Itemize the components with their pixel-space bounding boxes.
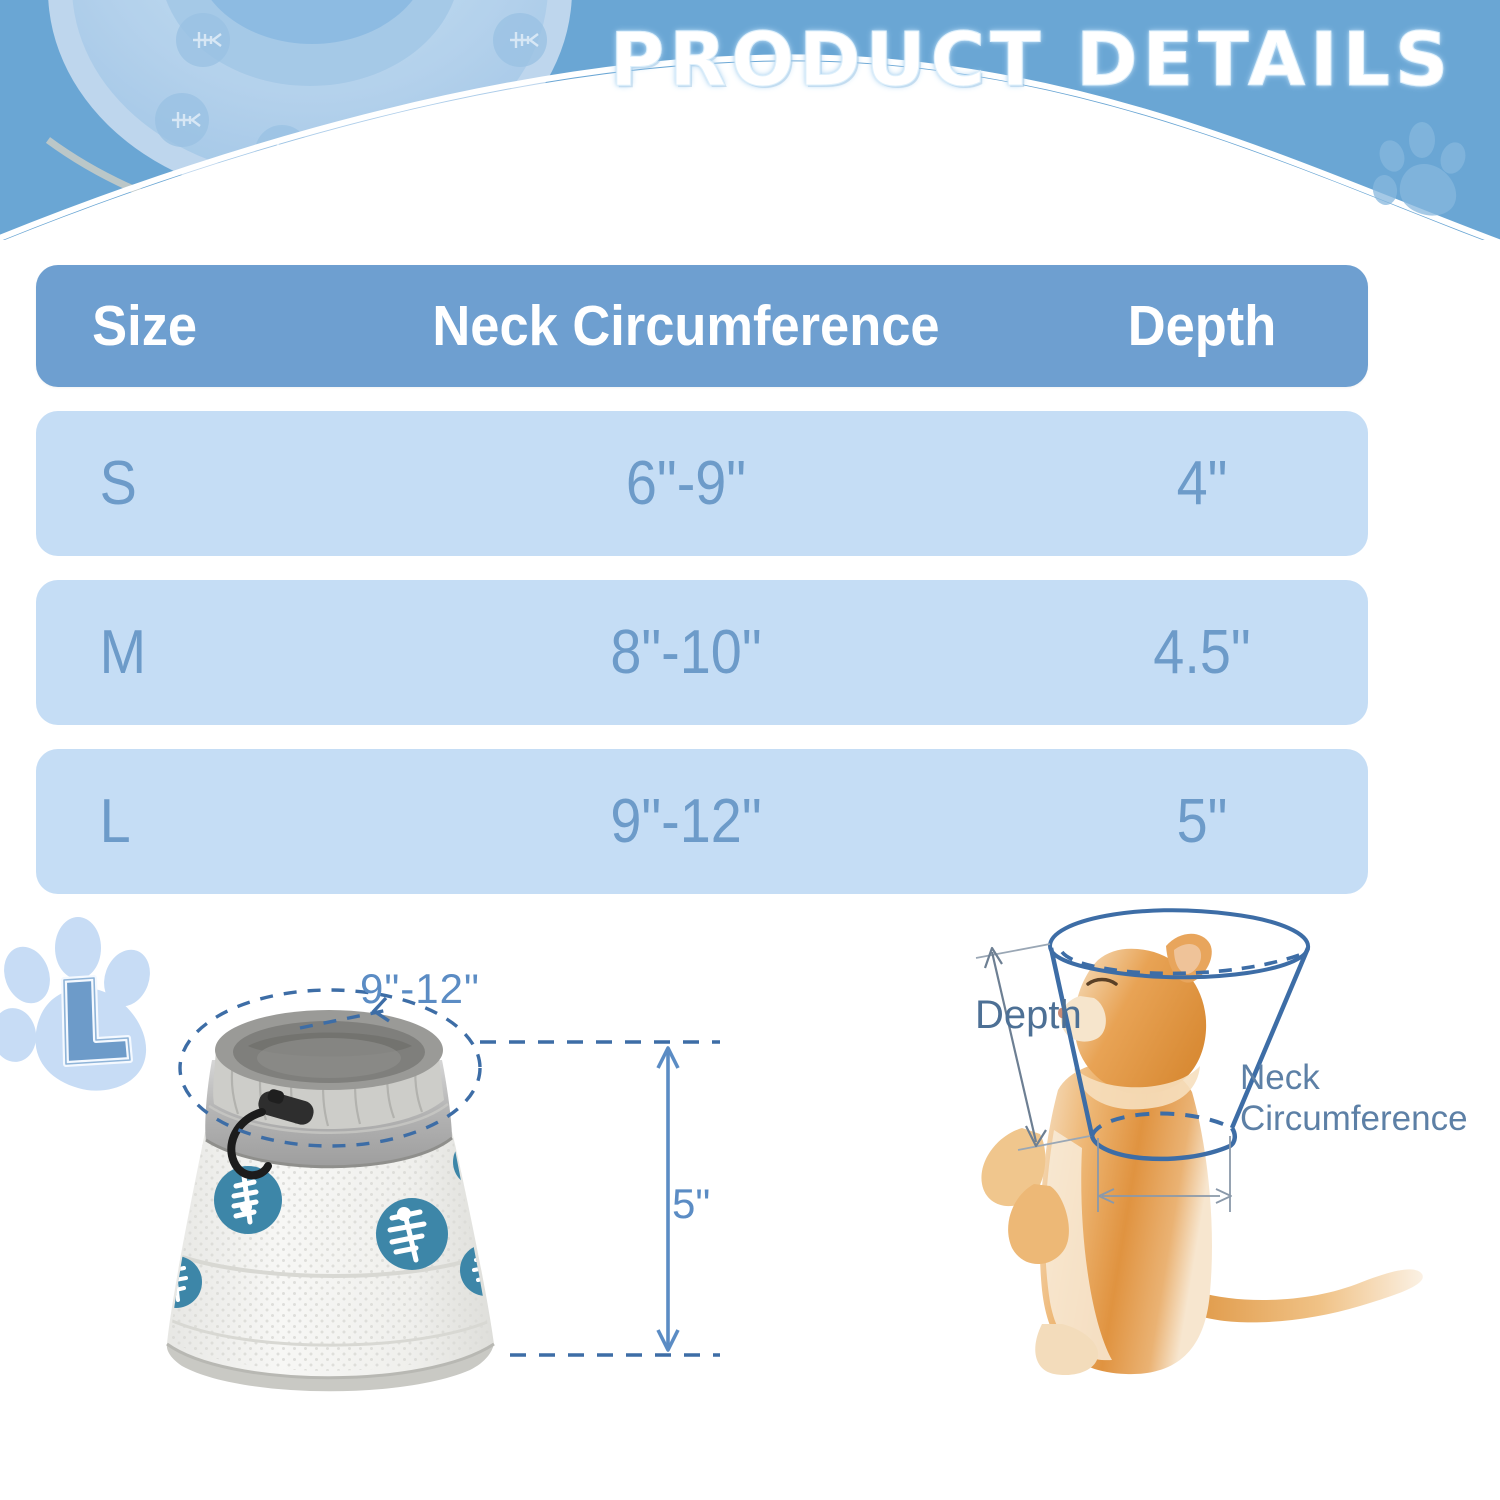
table-row: M 8"-10" 4.5"	[36, 580, 1368, 725]
column-header-size: Size	[48, 293, 324, 359]
cell-depth: 4"	[1053, 448, 1352, 519]
neck-dimension-label: 9"-12"	[360, 965, 480, 1013]
cell-size: L	[51, 786, 321, 857]
depth-dimension-label: 5"	[672, 1180, 710, 1228]
size-table: Size Neck Circumference Depth S 6"-9" 4"…	[36, 265, 1368, 894]
cell-neck: 8"-10"	[371, 617, 1001, 688]
cell-depth: 5"	[1053, 786, 1352, 857]
table-header-row: Size Neck Circumference Depth	[36, 265, 1368, 387]
neck-label-line-1: Neck	[1240, 1058, 1468, 1099]
cell-neck: 6"-9"	[371, 448, 1001, 519]
size-badge-paw	[0, 917, 158, 1091]
cone-collar-product	[150, 990, 520, 1410]
page-title: PRODUCT DETAILS	[610, 14, 1490, 106]
cat-diagram-graphics	[930, 900, 1500, 1500]
cell-neck: 9"-12"	[371, 786, 1001, 857]
table-row: S 6"-9" 4"	[36, 411, 1368, 556]
column-header-neck: Neck Circumference	[364, 293, 1008, 359]
infographic-page: PRODUCT DETAILS Size Neck Circumference …	[0, 0, 1500, 1500]
cell-size: S	[51, 448, 321, 519]
depth-label: Depth	[975, 993, 1082, 1038]
paw-print-icon	[1372, 120, 1482, 230]
column-header-depth: Depth	[1049, 293, 1354, 359]
cat-tail	[1194, 1269, 1423, 1322]
table-row: L 9"-12" 5"	[36, 749, 1368, 894]
cat-diagram-panel	[930, 900, 1500, 1500]
neck-label-line-2: Circumference	[1240, 1099, 1468, 1140]
cell-size: M	[51, 617, 321, 688]
cell-depth: 4.5"	[1053, 617, 1352, 688]
neck-circumference-label: Neck Circumference	[1240, 1058, 1468, 1139]
header-banner: PRODUCT DETAILS	[0, 0, 1500, 240]
